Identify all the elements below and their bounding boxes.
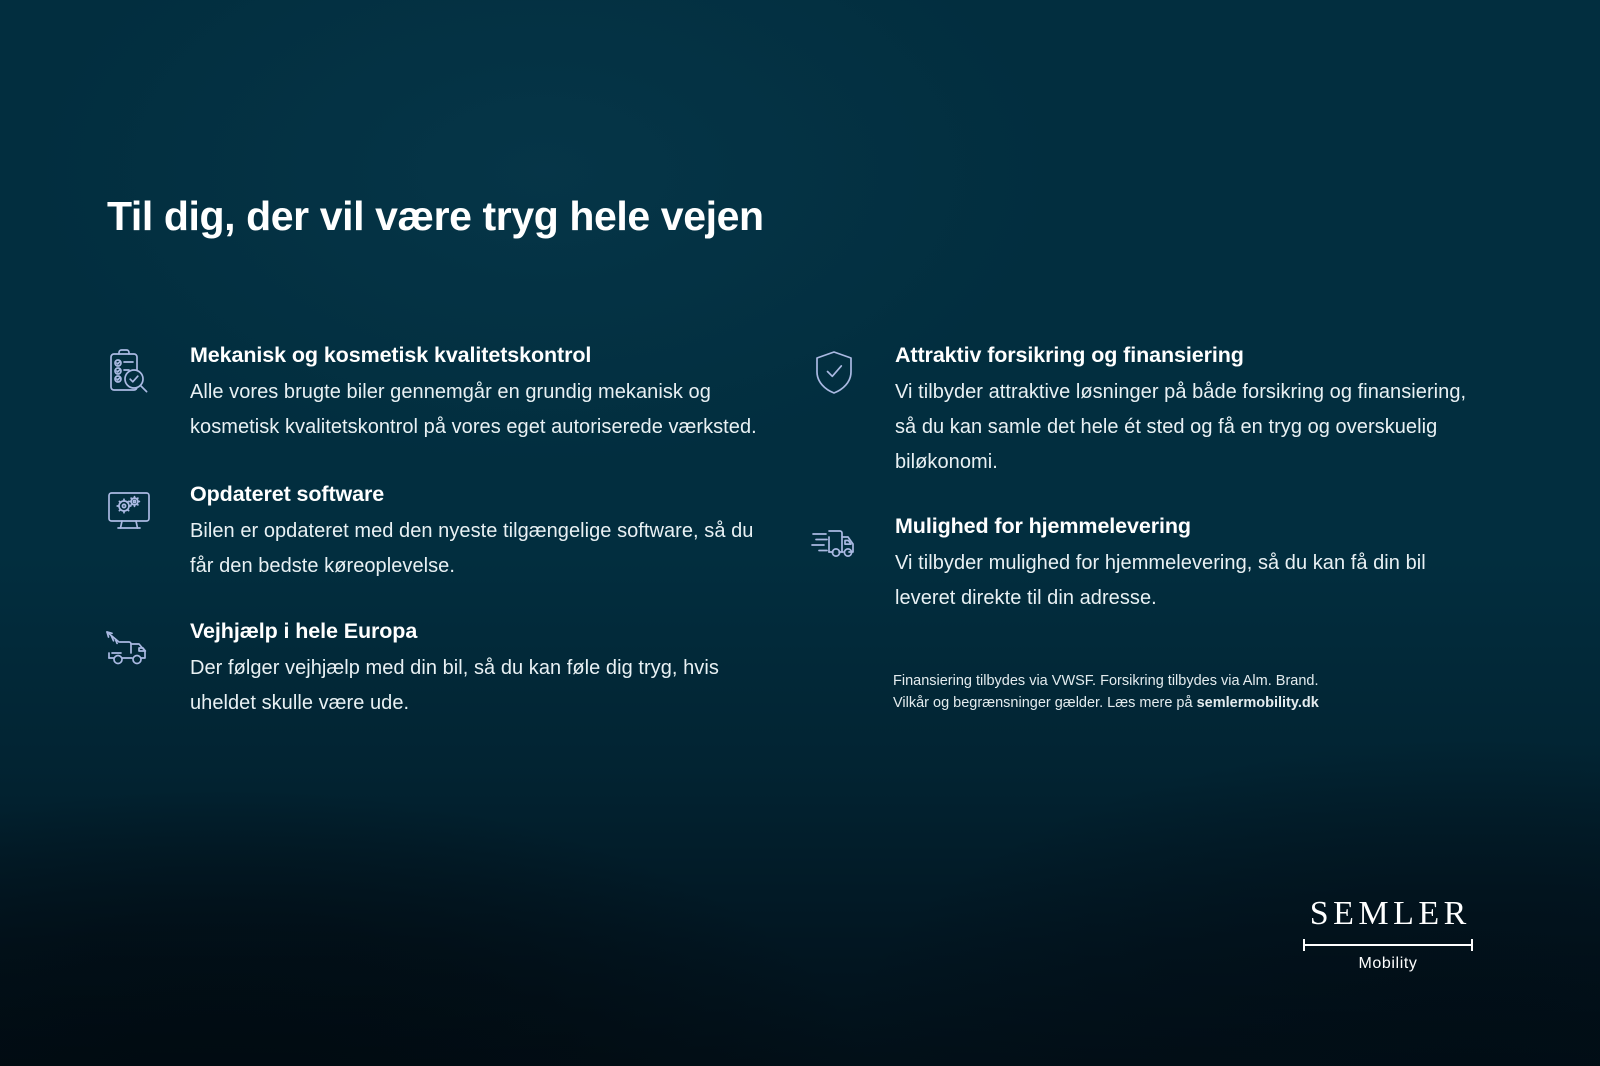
feature-insurance-financing: Attraktiv forsikring og finansiering Vi … [805,342,1485,480]
disclaimer-line-1: Finansiering tilbydes via VWSF. Forsikri… [893,670,1413,692]
feature-quality-control: Mekanisk og kosmetisk kvalitetskontrol A… [100,342,760,445]
logo-divider [1300,939,1476,951]
feature-description: Vi tilbyder attraktive løsninger på både… [895,375,1485,480]
disclaimer-line-2: Vilkår og begrænsninger gælder. Læs mere… [893,692,1413,714]
disclaimer: Finansiering tilbydes via VWSF. Forsikri… [893,670,1413,714]
feature-title: Vejhjælp i hele Europa [190,618,760,645]
clipboard-check-magnifier-icon [100,346,158,404]
feature-title: Opdateret software [190,481,760,508]
feature-title: Mulighed for hjemmelevering [895,513,1485,540]
logo-divider-cap-right [1471,939,1473,951]
feature-text: Mulighed for hjemmelevering Vi tilbyder … [805,513,1485,616]
page-title: Til dig, der vil være tryg hele vejen [107,193,764,240]
semlermobility-link[interactable]: semlermobility.dk [1197,695,1319,711]
logo-divider-cap-left [1303,939,1305,951]
feature-description: Alle vores brugte biler gennemgår en gru… [190,375,760,445]
delivery-truck-icon [805,517,863,575]
feature-text: Vejhjælp i hele Europa Der følger vejhjæ… [100,618,760,721]
features-column-right: Attraktiv forsikring og finansiering Vi … [805,342,1485,654]
features-column-left: Mekanisk og kosmetisk kvalitetskontrol A… [100,342,760,759]
feature-description: Vi tilbyder mulighed for hjemmelevering,… [895,546,1485,616]
feature-title: Attraktiv forsikring og finansiering [895,342,1485,369]
disclaimer-line-2-text: Vilkår og begrænsninger gælder. Læs mere… [893,695,1197,711]
feature-home-delivery: Mulighed for hjemmelevering Vi tilbyder … [805,513,1485,616]
promo-page: Til dig, der vil være tryg hele vejen Me… [0,0,1600,1066]
tow-truck-icon [100,622,158,680]
feature-roadside-assistance: Vejhjælp i hele Europa Der følger vejhjæ… [100,618,760,721]
feature-description: Der følger vejhjælp med din bil, så du k… [190,651,760,721]
logo-wordmark: SEMLER [1300,896,1476,932]
shield-check-icon [805,346,863,404]
feature-text: Opdateret software Bilen er opdateret me… [100,481,760,584]
logo-subtitle: Mobility [1300,955,1476,973]
feature-text: Attraktiv forsikring og finansiering Vi … [805,342,1485,480]
feature-text: Mekanisk og kosmetisk kvalitetskontrol A… [100,342,760,445]
feature-description: Bilen er opdateret med den nyeste tilgæn… [190,514,760,584]
feature-title: Mekanisk og kosmetisk kvalitetskontrol [190,342,760,369]
semler-mobility-logo: SEMLER Mobility [1300,896,1476,973]
feature-updated-software: Opdateret software Bilen er opdateret me… [100,481,760,584]
monitor-gears-icon [100,485,158,543]
